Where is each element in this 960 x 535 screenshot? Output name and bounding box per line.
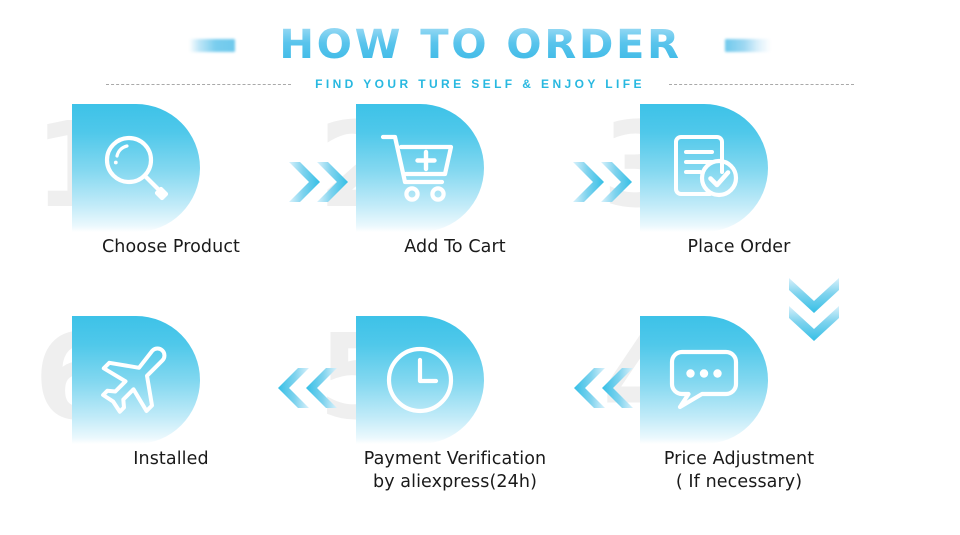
step-4-caption: Price Adjustment ( If necessary) — [594, 448, 884, 494]
title-decoration-right-icon — [725, 39, 771, 52]
step-5-payment-verification: 5 Payment Verification by aliexpress(24h… — [310, 312, 600, 512]
step-3-artwork: 3 — [594, 100, 884, 240]
step-6-installed: 6 Installed — [26, 312, 316, 512]
steps-grid: 1 Choose Product 2 — [0, 100, 960, 535]
step-6-artwork: 6 — [26, 312, 316, 452]
step-5-caption: Payment Verification by aliexpress(24h) — [310, 448, 600, 494]
divider-right — [669, 84, 854, 85]
step-4-label-line1: Price Adjustment — [664, 449, 814, 469]
double-chevron-right-icon — [287, 158, 351, 206]
title-decoration-left-icon — [189, 39, 235, 52]
page-subtitle: FIND YOUR TURE SELF & ENJOY LIFE — [291, 77, 669, 91]
subtitle-row: FIND YOUR TURE SELF & ENJOY LIFE — [0, 74, 960, 94]
step-5-label-line2: by aliexpress(24h) — [310, 471, 600, 494]
step-5-label-line1: Payment Verification — [364, 449, 547, 469]
double-chevron-left-icon — [571, 364, 635, 412]
double-chevron-right-icon — [571, 158, 635, 206]
step-5-artwork: 5 — [310, 312, 600, 452]
magnifier-icon — [72, 104, 200, 232]
step-1-artwork: 1 — [26, 100, 316, 240]
double-chevron-left-icon — [275, 364, 339, 412]
step-2-artwork: 2 — [310, 100, 600, 240]
step-3-label-line1: Place Order — [688, 237, 791, 257]
shopping-cart-plus-icon — [356, 104, 484, 232]
step-3-place-order: 3 Place Order — [594, 100, 884, 300]
step-6-caption: Installed — [26, 448, 316, 471]
step-2-add-to-cart: 2 Add To Cart — [310, 100, 600, 300]
step-6-label-line1: Installed — [133, 449, 208, 469]
airplane-icon — [72, 316, 200, 444]
step-2-label-line1: Add To Cart — [404, 237, 506, 257]
step-4-label-line2: ( If necessary) — [594, 471, 884, 494]
double-chevron-down-icon — [785, 276, 843, 344]
document-check-icon — [640, 104, 768, 232]
header: HOW TO ORDER FIND YOUR TURE SELF & ENJOY… — [0, 0, 960, 100]
divider-left — [106, 84, 291, 85]
step-1-caption: Choose Product — [26, 236, 316, 259]
page-title: HOW TO ORDER — [279, 25, 681, 65]
step-1-choose-product: 1 Choose Product — [26, 100, 316, 300]
how-to-order-infographic: HOW TO ORDER FIND YOUR TURE SELF & ENJOY… — [0, 0, 960, 535]
step-1-label-line1: Choose Product — [102, 237, 240, 257]
step-3-caption: Place Order — [594, 236, 884, 259]
clock-icon — [356, 316, 484, 444]
step-2-caption: Add To Cart — [310, 236, 600, 259]
speech-bubble-dots-icon — [640, 316, 768, 444]
title-row: HOW TO ORDER — [0, 22, 960, 68]
